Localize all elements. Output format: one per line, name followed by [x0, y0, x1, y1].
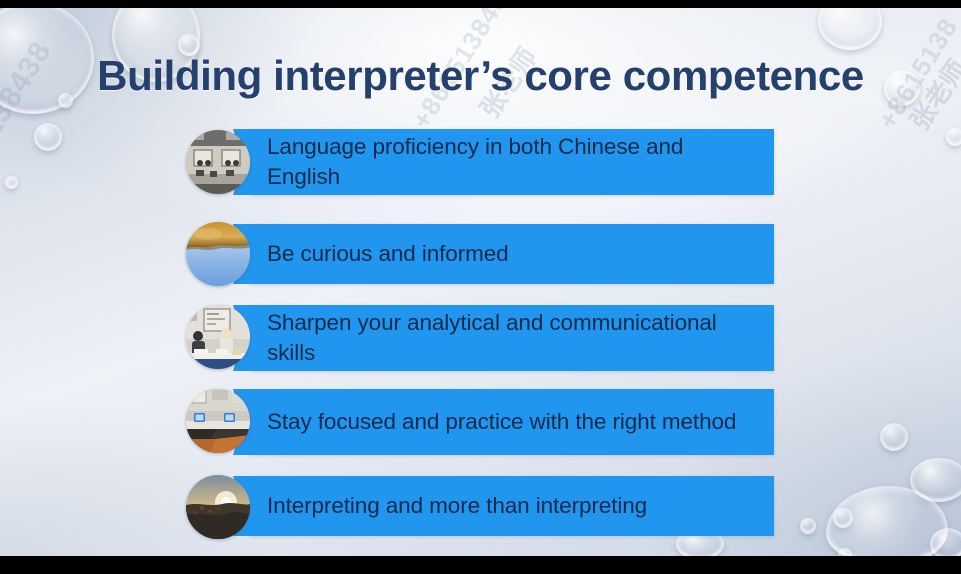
list-item-bar: Be curious and informed [250, 224, 774, 284]
list-item-label: Stay focused and practice with the right… [250, 407, 752, 437]
list-item-bar: Language proficiency in both Chinese and… [250, 129, 774, 195]
interpreter-booths-photo [186, 130, 250, 194]
letterbox-bar-bottom [0, 556, 961, 574]
list-item-label: Be curious and informed [250, 239, 525, 269]
sand-dune-sky-photo [186, 222, 250, 286]
list-item-bar: Sharpen your analytical and communicatio… [250, 305, 774, 371]
list-item-bar: Interpreting and more than interpreting [250, 476, 774, 536]
classroom-presentation-photo [186, 305, 250, 369]
list-item-label: Language proficiency in both Chinese and… [250, 132, 774, 192]
list-item-bar: Stay focused and practice with the right… [250, 389, 774, 455]
sunset-field-photo [186, 475, 250, 539]
conference-desk-photo [186, 389, 250, 453]
bullet-list: Language proficiency in both Chinese and… [0, 8, 961, 556]
video-player-frame: +8615138438 +861513843 +8615138 张老师 张老师 … [0, 0, 961, 574]
list-item-label: Sharpen your analytical and communicatio… [250, 308, 774, 368]
letterbox-bar-top [0, 0, 961, 8]
presentation-slide: +8615138438 +861513843 +8615138 张老师 张老师 … [0, 8, 961, 556]
list-item-label: Interpreting and more than interpreting [250, 491, 663, 521]
